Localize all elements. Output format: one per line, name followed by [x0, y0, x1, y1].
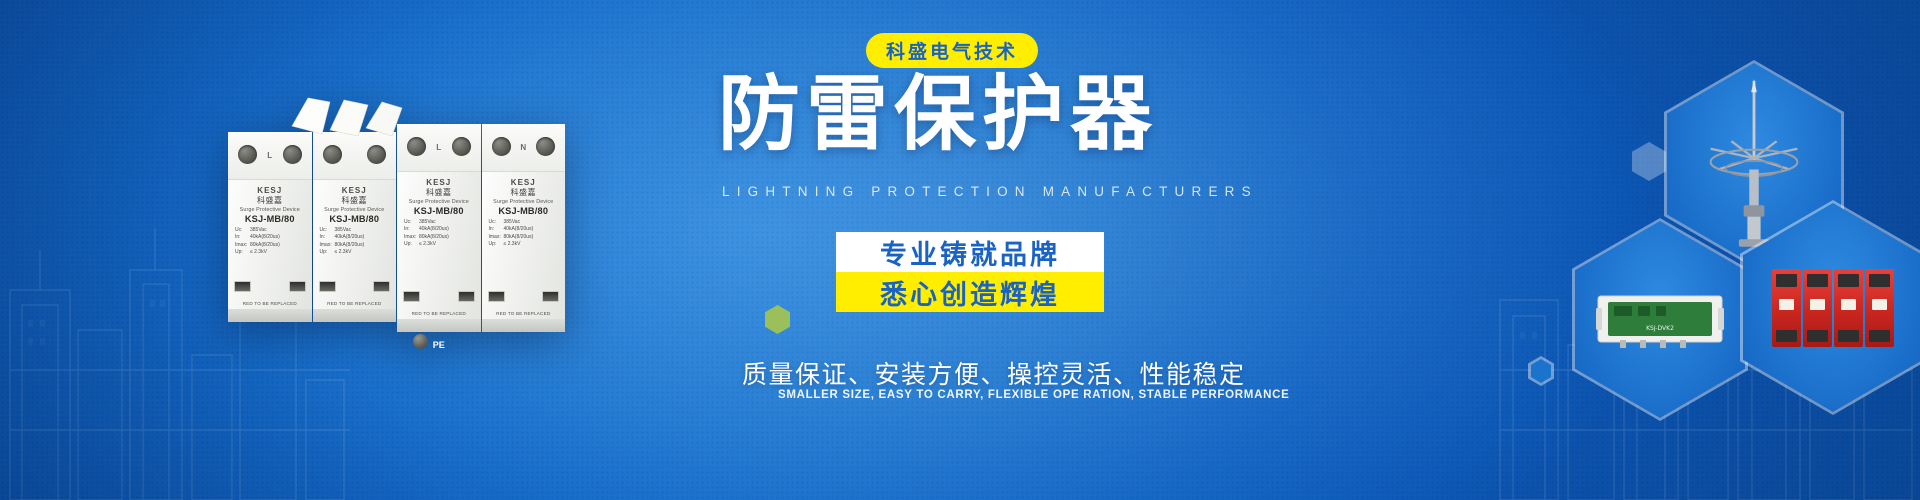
- spec-key: Imax:: [235, 242, 250, 249]
- spec-key: Up:: [320, 249, 335, 256]
- page-title: 防雷保护器: [718, 74, 1158, 156]
- terminal-label: L: [436, 143, 441, 152]
- spec-value: 40kA(8/20us): [419, 226, 449, 232]
- red-spd-module: [1772, 269, 1801, 347]
- indicator-window: [289, 281, 306, 292]
- hexagon-collage: KSJ-DVK2: [1260, 0, 1920, 500]
- spd-terminal-block: N: [482, 124, 566, 172]
- spd-footer-note: RED TO BE REPLACED: [228, 301, 312, 306]
- spd-footer-note: RED TO BE REPLACED: [397, 311, 481, 316]
- spec-key: Uc:: [320, 227, 335, 234]
- spec-key: Uc:: [404, 219, 419, 226]
- red-spd-module: [1803, 269, 1832, 347]
- din-rail-base: [228, 309, 312, 322]
- red-spd-art: [1770, 267, 1896, 349]
- spd-module: KESJ 科盛嘉 Surge Protective Device KSJ-MB/…: [313, 132, 397, 322]
- indicator-window: [319, 281, 336, 292]
- spd-terminal-block: [313, 132, 397, 180]
- pe-terminal-screw-icon: [413, 334, 428, 349]
- terminal-label: L: [267, 151, 272, 160]
- spec-key: Imax:: [404, 234, 419, 241]
- terminal-screw-icon: [452, 137, 471, 156]
- spec-value: 40kA(8/20us): [250, 234, 280, 240]
- spd-indicator-windows: [234, 281, 306, 292]
- spd-footer-note: RED TO BE REPLACED: [313, 301, 397, 306]
- feature-list-english: SMALLER SIZE, EASY TO CARRY, FLEXIBLE OP…: [778, 389, 1289, 401]
- spd-terminal-block: L: [228, 132, 312, 180]
- din-rail-base: [397, 319, 481, 332]
- spd-indicator-windows: [319, 281, 391, 292]
- decorative-hexagon: [1528, 356, 1554, 386]
- brand-cn-mark: 科盛嘉: [487, 187, 561, 198]
- spec-value: ≤ 2.3kV: [504, 241, 521, 247]
- slogan-primary: 专业铸就品牌: [836, 232, 1104, 272]
- spec-value: 385Vac: [419, 219, 436, 225]
- svg-text:KSJ-DVK2: KSJ-DVK2: [1646, 325, 1674, 332]
- spec-key: Up:: [404, 241, 419, 248]
- spd-subtitle: Surge Protective Device: [233, 207, 307, 213]
- spd-model: KSJ-MB/80: [318, 214, 392, 224]
- spec-value: ≤ 2.3kV: [250, 249, 267, 255]
- spd-model: KSJ-MB/80: [233, 214, 307, 224]
- spec-value: 385Vac: [335, 227, 352, 233]
- spd-subtitle: Surge Protective Device: [487, 199, 561, 205]
- indicator-window: [403, 291, 420, 302]
- spd-model: KSJ-MB/80: [402, 206, 476, 216]
- page-title-english: LIGHTNING PROTECTION MANUFACTURERS: [722, 184, 1258, 199]
- spec-value: ≤ 2.3kV: [419, 241, 436, 247]
- spec-key: In:: [320, 234, 335, 241]
- spd-indicator-windows: [488, 291, 560, 302]
- spec-key: In:: [235, 234, 250, 241]
- brand-latin-mark: KESJ: [233, 186, 307, 195]
- spd-model: KSJ-MB/80: [487, 206, 561, 216]
- brand-cn-mark: 科盛嘉: [402, 187, 476, 198]
- spec-value: 80kA(8/20us): [335, 242, 365, 248]
- spd-spec-list: Uc:385Vac In:40kA(8/20us) Imax:80kA(8/20…: [487, 219, 561, 248]
- spd-product-group: L KESJ 科盛嘉 Surge Protective Device KSJ-M…: [228, 118, 566, 332]
- brand-latin-mark: KESJ: [402, 178, 476, 187]
- spd-spec-list: Uc:385Vac In:40kA(8/20us) Imax:80kA(8/20…: [233, 227, 307, 256]
- brand-latin-mark: KESJ: [487, 178, 561, 187]
- indicator-window: [488, 291, 505, 302]
- feature-list-chinese: 质量保证、安装方便、操控灵活、性能稳定: [742, 355, 1246, 391]
- spec-value: ≤ 2.3kV: [335, 249, 352, 255]
- red-spd-module: [1865, 269, 1894, 347]
- indicator-window: [234, 281, 251, 292]
- spec-value: 40kA(8/20us): [504, 226, 534, 232]
- spec-key: Imax:: [489, 234, 504, 241]
- spec-value: 385Vac: [504, 219, 521, 225]
- terminal-screw-icon: [323, 145, 342, 164]
- terminal-screw-icon: [536, 137, 555, 156]
- spd-terminal-block: L: [397, 124, 481, 172]
- accent-hexagon-icon: [765, 305, 790, 334]
- spd-module: N KESJ 科盛嘉 Surge Protective Device KSJ-M…: [482, 124, 566, 332]
- indicator-window: [458, 291, 475, 302]
- spd-spec-list: Uc:385Vac In:40kA(8/20us) Imax:80kA(8/20…: [402, 219, 476, 248]
- brand-latin-mark: KESJ: [318, 186, 392, 195]
- spec-key: Uc:: [235, 227, 250, 234]
- spec-value: 80kA(8/20us): [504, 234, 534, 240]
- spec-key: Imax:: [320, 242, 335, 249]
- spd-footer-note: RED TO BE REPLACED: [482, 311, 566, 316]
- spec-value: 80kA(8/20us): [419, 234, 449, 240]
- red-spd-module: [1834, 269, 1863, 347]
- spec-value: 385Vac: [250, 227, 267, 233]
- spd-indicator-windows: [403, 291, 475, 302]
- terminal-screw-icon: [367, 145, 386, 164]
- terminal-screw-icon: [492, 137, 511, 156]
- pe-label: PE: [433, 340, 445, 350]
- brand-cn-mark: 科盛嘉: [233, 195, 307, 206]
- brand-cn-mark: 科盛嘉: [318, 195, 392, 206]
- decorative-hexagon: [1632, 142, 1666, 181]
- spec-key: Up:: [235, 249, 250, 256]
- din-rail-base: [482, 319, 566, 332]
- spec-key: Uc:: [489, 219, 504, 226]
- spec-value: 80kA(8/20us): [250, 242, 280, 248]
- spec-key: Up:: [489, 241, 504, 248]
- slogan-group: 专业铸就品牌 悉心创造辉煌: [836, 232, 1104, 312]
- din-rail-base: [313, 309, 397, 322]
- terminal-screw-icon: [283, 145, 302, 164]
- spec-value: 40kA(8/20us): [335, 234, 365, 240]
- spd-subtitle: Surge Protective Device: [318, 207, 392, 213]
- indicator-window: [373, 281, 390, 292]
- indicator-window: [542, 291, 559, 302]
- spd-spec-list: Uc:385Vac In:40kA(8/20us) Imax:80kA(8/20…: [318, 227, 392, 256]
- spd-module: L KESJ 科盛嘉 Surge Protective Device KSJ-M…: [397, 124, 481, 332]
- terminal-screw-icon: [407, 137, 426, 156]
- brand-tag-pill: 科盛电气技术: [866, 33, 1038, 68]
- spec-key: In:: [489, 226, 504, 233]
- terminal-screw-icon: [238, 145, 257, 164]
- spd-subtitle: Surge Protective Device: [402, 199, 476, 205]
- promo-banner: L KESJ 科盛嘉 Surge Protective Device KSJ-M…: [0, 0, 1920, 500]
- terminal-label: N: [520, 143, 526, 152]
- slogan-secondary: 悉心创造辉煌: [836, 272, 1104, 312]
- spec-key: In:: [404, 226, 419, 233]
- spd-module: L KESJ 科盛嘉 Surge Protective Device KSJ-M…: [228, 132, 312, 322]
